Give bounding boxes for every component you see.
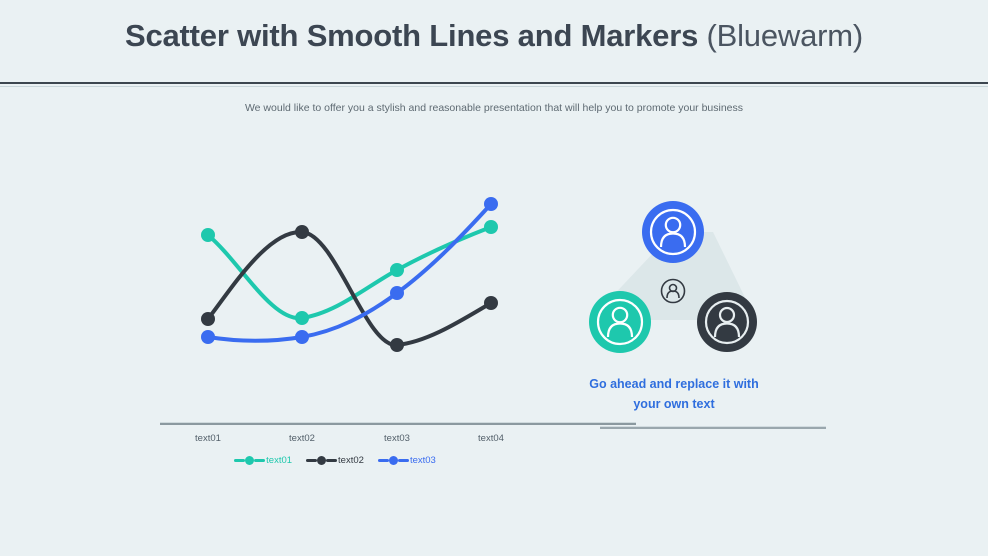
data-point-text02-0[interactable] xyxy=(201,312,215,326)
person-node-left[interactable] xyxy=(589,291,651,353)
legend-label-text01: text01 xyxy=(266,455,292,466)
page-title-light: (Bluewarm) xyxy=(698,18,863,53)
x-tick-label-3: text04 xyxy=(456,433,526,444)
person-node-top[interactable] xyxy=(642,201,704,263)
data-point-text03-1[interactable] xyxy=(295,330,309,344)
series-line-text03 xyxy=(208,204,491,341)
page-title: Scatter with Smooth Lines and Markers (B… xyxy=(0,18,988,54)
page-title-bold: Scatter with Smooth Lines and Markers xyxy=(125,18,698,53)
data-point-text03-2[interactable] xyxy=(390,286,404,300)
replace-text-line2: your own text xyxy=(554,394,794,414)
data-point-text01-3[interactable] xyxy=(484,220,498,234)
legend-label-text03: text03 xyxy=(410,455,436,466)
data-point-text02-1[interactable] xyxy=(295,225,309,239)
data-point-text01-2[interactable] xyxy=(390,263,404,277)
header-divider-dark xyxy=(0,82,988,84)
legend-marker-icon xyxy=(389,456,398,465)
x-tick-label-2: text03 xyxy=(362,433,432,444)
legend-line-icon xyxy=(378,459,389,462)
legend-item-text02[interactable]: text02 xyxy=(306,455,364,466)
replace-text-block[interactable]: Go ahead and replace it with your own te… xyxy=(554,374,794,414)
legend-line-icon xyxy=(306,459,317,462)
data-point-text01-0[interactable] xyxy=(201,228,215,242)
data-point-text01-1[interactable] xyxy=(295,311,309,325)
legend-marker-icon xyxy=(317,456,326,465)
legend-line-icon xyxy=(326,459,337,462)
x-tick-label-0: text01 xyxy=(173,433,243,444)
header-divider-light xyxy=(0,86,988,87)
replace-text-line1: Go ahead and replace it with xyxy=(554,374,794,394)
legend-item-text03[interactable]: text03 xyxy=(378,455,436,466)
subtitle-text: We would like to offer you a stylish and… xyxy=(0,102,988,114)
legend-label-text02: text02 xyxy=(338,455,364,466)
x-tick-label-1: text02 xyxy=(267,433,337,444)
legend-marker-icon xyxy=(245,456,254,465)
legend-line-icon xyxy=(398,459,409,462)
slide-canvas: Scatter with Smooth Lines and Markers (B… xyxy=(0,0,988,556)
data-point-text03-3[interactable] xyxy=(484,197,498,211)
chart-legend: text01 text02 text03 xyxy=(160,455,510,466)
legend-item-text01[interactable]: text01 xyxy=(234,455,292,466)
person-node-right[interactable] xyxy=(697,292,757,352)
data-point-text02-3[interactable] xyxy=(484,296,498,310)
series-line-text01 xyxy=(208,227,491,318)
graphic-underline xyxy=(600,427,826,429)
legend-line-icon xyxy=(254,459,265,462)
data-point-text03-0[interactable] xyxy=(201,330,215,344)
data-point-text02-2[interactable] xyxy=(390,338,404,352)
legend-line-icon xyxy=(234,459,245,462)
